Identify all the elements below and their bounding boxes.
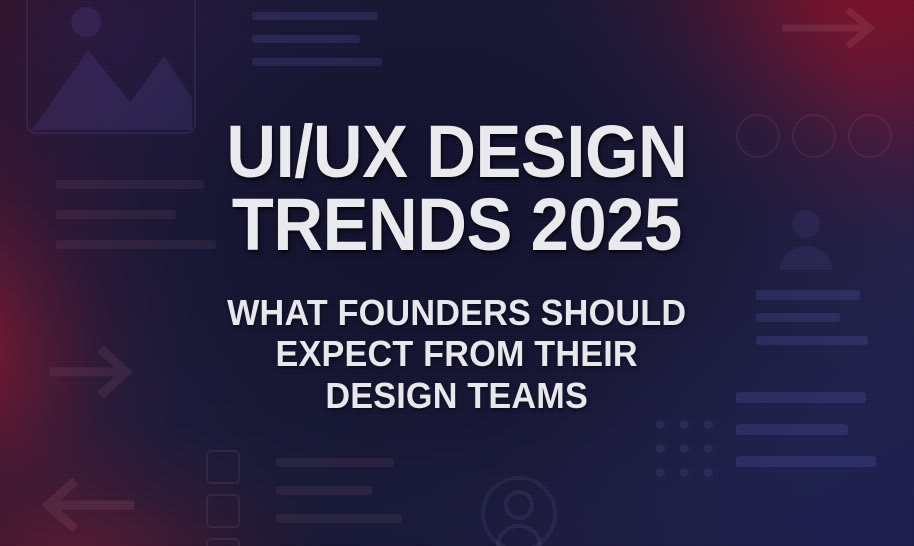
poster-subtitle-line-1: WHAT FOUNDERS SHOULD (227, 292, 686, 334)
poster-title-line-1: UI/UX DESIGN (227, 115, 688, 188)
poster-title: UI/UX DESIGN TRENDS 2025 (209, 115, 705, 262)
poster-canvas: UI/UX DESIGN TRENDS 2025 WHAT FOUNDERS S… (0, 0, 914, 546)
poster-subtitle: WHAT FOUNDERS SHOULD EXPECT FROM THEIR D… (215, 292, 698, 417)
poster-subtitle-line-3: DESIGN TEAMS (227, 375, 686, 417)
poster-subtitle-line-2: EXPECT FROM THEIR (227, 333, 686, 375)
poster-text-content: UI/UX DESIGN TRENDS 2025 WHAT FOUNDERS S… (0, 0, 914, 546)
poster-title-line-2: TRENDS 2025 (227, 188, 688, 261)
